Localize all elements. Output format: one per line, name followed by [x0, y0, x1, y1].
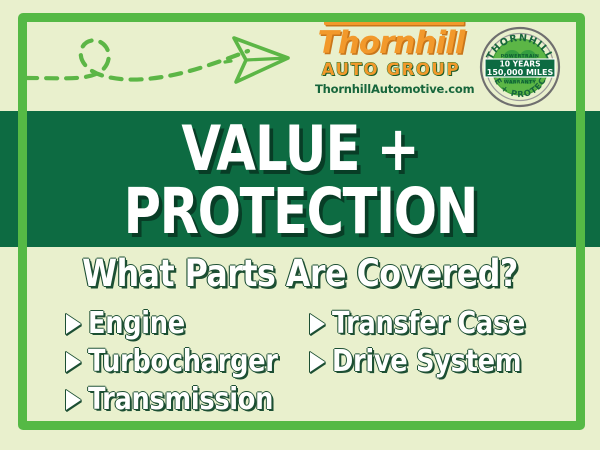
triangle-bullet-icon — [310, 352, 325, 372]
list-item-label: Transfer Case — [332, 308, 525, 340]
powertrain-warranty-seal: THORNHILL VALUE + PROTECTION POWERTRAIN … — [478, 25, 562, 109]
thornhill-auto-group-logo[interactable]: Thornhill AUTO GROUP ThornhillAutomotive… — [315, 26, 467, 104]
seal-miles-text: 150,000 MILES — [487, 68, 554, 77]
list-item: Transfer Case — [310, 305, 535, 343]
dashed-loop-path-icon — [22, 16, 292, 104]
triangle-bullet-icon — [66, 390, 81, 410]
triangle-bullet-icon — [310, 314, 325, 334]
headline-line-1: VALUE + — [181, 117, 418, 180]
logo-wordmark: Thornhill — [318, 26, 465, 60]
website-url[interactable]: ThornhillAutomotive.com — [315, 82, 467, 96]
paper-plane-arrow-icon — [225, 38, 288, 82]
list-item: Drive System — [310, 343, 535, 381]
list-item: Engine — [66, 305, 288, 343]
covered-parts-left-column: Engine Turbocharger Transmission — [66, 305, 288, 419]
logo-subtitle: AUTO GROUP — [315, 61, 467, 79]
list-item: Turbocharger — [66, 343, 288, 381]
logo-wordmark-text: Thornhill — [318, 25, 465, 61]
headline-line-2: PROTECTION — [123, 180, 476, 243]
subheading: What Parts Are Covered? — [15, 253, 585, 295]
seal-warranty-text: WARRANTY — [504, 80, 537, 86]
value-protection-ad-banner: Thornhill AUTO GROUP ThornhillAutomotive… — [0, 0, 600, 450]
triangle-bullet-icon — [66, 352, 81, 372]
flight-path-decoration — [22, 16, 292, 109]
list-item-label: Drive System — [332, 346, 521, 378]
list-item-label: Transmission — [88, 384, 273, 416]
list-item: Transmission — [66, 381, 288, 419]
covered-parts-right-column: Transfer Case Drive System — [310, 305, 535, 381]
triangle-bullet-icon — [66, 314, 81, 334]
list-item-label: Engine — [88, 308, 185, 340]
list-item-label: Turbocharger — [88, 346, 278, 378]
headline-block: VALUE + PROTECTION — [0, 113, 600, 247]
covered-parts-section: What Parts Are Covered? Engine Turbochar… — [0, 247, 600, 450]
logo-overline-bar — [324, 19, 464, 25]
header-area: Thornhill AUTO GROUP ThornhillAutomotive… — [0, 0, 600, 111]
